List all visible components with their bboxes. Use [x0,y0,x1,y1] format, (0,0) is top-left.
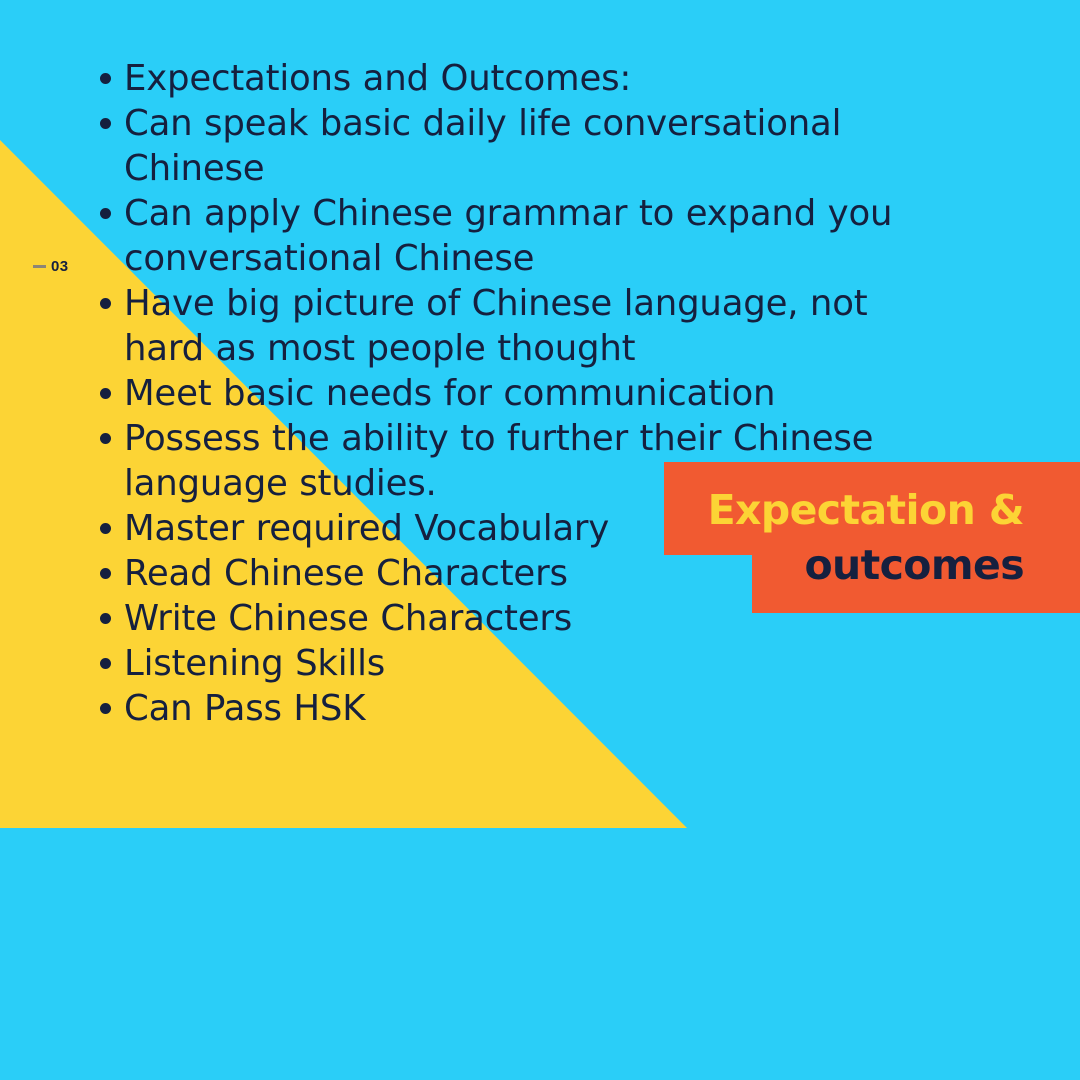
bullet-dot-icon [100,613,111,624]
bullet-dot-icon [100,523,111,534]
list-item: Expectations and Outcomes: [96,56,926,101]
list-item: Can apply Chinese grammar to expand you … [96,191,926,281]
bullet-dot-icon [100,658,111,669]
list-item-label: Have big picture of Chinese language, no… [124,283,867,369]
bullet-dot-icon [100,568,111,579]
list-item-label: Expectations and Outcomes: [124,58,631,99]
bullet-dot-icon [100,118,111,129]
list-item-label: Master required Vocabulary [124,508,609,549]
list-item-label: Can Pass HSK [124,688,365,729]
expectations-bullet-list: Expectations and Outcomes: Can speak bas… [96,56,926,731]
list-item-label: Write Chinese Characters [124,598,572,639]
bullet-dot-icon [100,298,111,309]
list-item: Have big picture of Chinese language, no… [96,281,926,371]
label-line-two: outcomes [804,538,1024,593]
bullet-dot-icon [100,73,111,84]
page-number: 03 [51,259,69,274]
list-item-label: Can speak basic daily life conversationa… [124,103,841,189]
list-item: Can speak basic daily life conversationa… [96,101,926,191]
list-item-label: Read Chinese Characters [124,553,568,594]
list-item-label: Meet basic needs for communication [124,373,775,414]
section-title-label: Expectation & outcomes [664,462,1080,613]
list-item: Listening Skills [96,641,926,686]
slide-canvas: 03 Expectations and Outcomes: Can speak … [0,0,1080,1080]
list-item: Meet basic needs for communication [96,371,926,416]
bullet-dot-icon [100,703,111,714]
bullet-dot-icon [100,208,111,219]
page-number-marker: 03 [33,259,69,274]
label-text-group: Expectation & outcomes [664,462,1080,613]
marker-dash-icon [33,265,46,268]
list-item: Can Pass HSK [96,686,926,731]
label-line-one: Expectation & [708,483,1024,538]
list-item-label: Listening Skills [124,643,385,684]
bullet-dot-icon [100,388,111,399]
list-item-label: Can apply Chinese grammar to expand you … [124,193,892,279]
bullet-dot-icon [100,433,111,444]
